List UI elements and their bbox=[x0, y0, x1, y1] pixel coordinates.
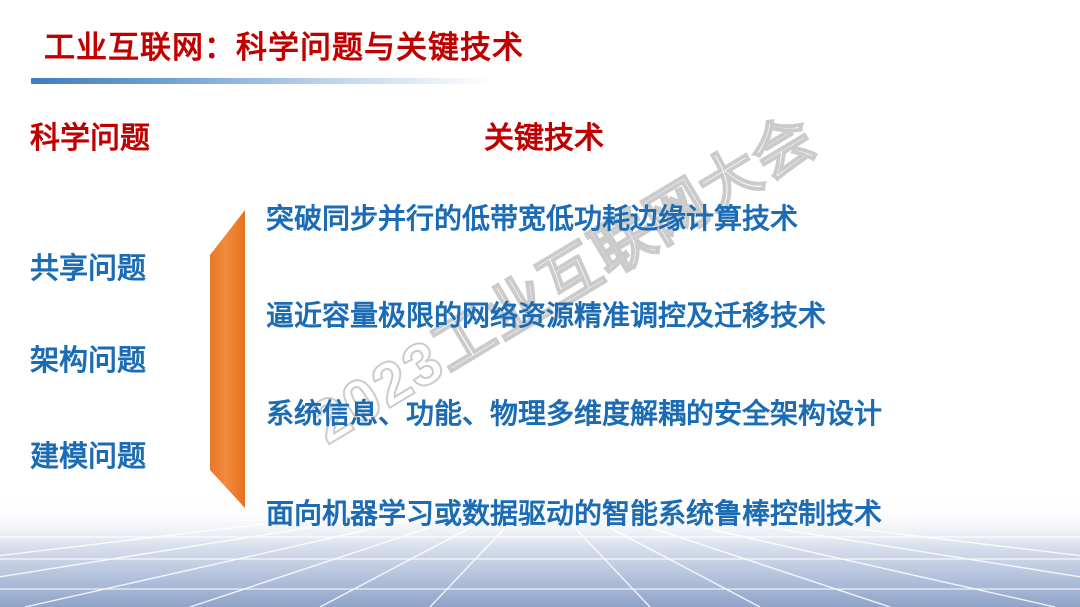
technology-item-2: 系统信息、功能、物理多维度解耦的安全架构设计 bbox=[266, 392, 882, 432]
technology-item-3: 面向机器学习或数据驱动的智能系统鲁棒控制技术 bbox=[266, 492, 882, 532]
title-underline-rule bbox=[31, 78, 493, 84]
technology-item-0: 突破同步并行的低带宽低功耗边缘计算技术 bbox=[266, 197, 798, 237]
problem-item-1: 架构问题 bbox=[30, 337, 146, 379]
heading-key-technologies: 关键技术 bbox=[484, 113, 604, 157]
heading-scientific-problems: 科学问题 bbox=[30, 113, 150, 157]
right-arrow-icon bbox=[200, 200, 260, 520]
page-title: 工业互联网：科学问题与关键技术 bbox=[44, 22, 524, 67]
problem-item-0: 共享问题 bbox=[30, 245, 146, 287]
arrow-shape bbox=[200, 200, 260, 520]
slide-canvas: 2023工业互联网大会 工业互联网：科学问题与关键技术 科学问题 关键技术 共享… bbox=[0, 0, 1080, 607]
problem-item-2: 建模问题 bbox=[30, 433, 146, 475]
technology-item-1: 逼近容量极限的网络资源精准调控及迁移技术 bbox=[266, 294, 826, 334]
